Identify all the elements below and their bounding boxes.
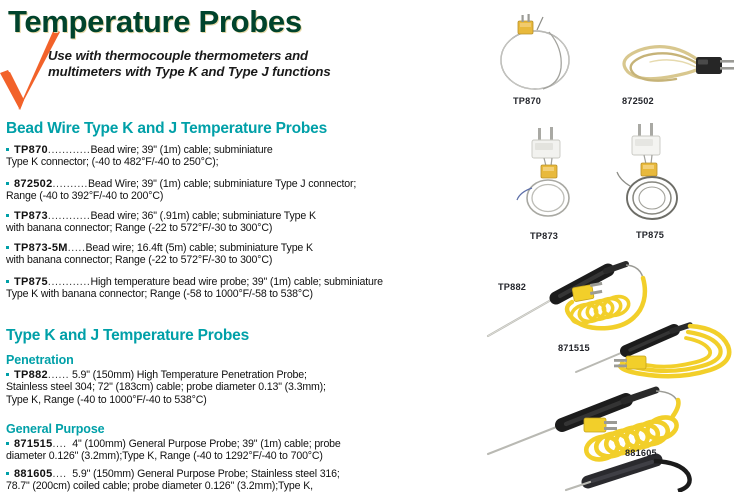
figure-caption: TP875 <box>636 230 664 240</box>
product-desc-line-1: High temperature bead wire probe; 39" (1… <box>90 276 382 288</box>
product-desc-line-2: diameter 0.126" (3.2mm);Type K, Range (-… <box>6 450 418 462</box>
figure-caption: 871515 <box>558 343 590 353</box>
general-purpose-coiled-probe-photo <box>480 386 720 492</box>
product-figure-871515: 871515 <box>570 318 746 396</box>
dot-leader: ............ <box>48 276 91 288</box>
section-heading-type-k-j: Type K and J Temperature Probes <box>6 327 249 345</box>
part-number: TP875 <box>14 276 48 288</box>
tan-cable-black-connector-photo <box>610 34 740 94</box>
bead-wire-loop-probe-photo <box>485 8 605 94</box>
general-purpose-probe-photo <box>570 318 746 396</box>
part-number: TP870 <box>14 144 48 156</box>
product-image-column: TP870 872502 <box>430 0 746 492</box>
product-figure-872502: 872502 <box>610 34 740 94</box>
figure-caption: 881605 <box>625 448 657 458</box>
product-desc-line-2: Type K with banana connector; Range (-58… <box>6 288 418 300</box>
product-item-871515: 871515.... 4" (100mm) General Purpose Pr… <box>6 438 418 463</box>
text-column: Temperature Probes Use with thermocouple… <box>0 0 430 492</box>
product-desc-line-1: Bead wire; 39" (1m) cable; subminiature <box>90 144 272 156</box>
product-item-tp873-5m: TP873-5M.....Bead wire; 16.4ft (5m) cabl… <box>6 242 418 267</box>
product-desc-line-1: Bead wire; 36" (.91m) cable; subminiatur… <box>90 210 315 222</box>
figure-caption: TP882 <box>498 282 526 292</box>
product-desc-line-2: Type K connector; (-40 to 482°F/-40 to 2… <box>6 156 418 168</box>
page-subtitle: Use with thermocouple thermometers and m… <box>48 48 418 80</box>
part-number: TP873-5M <box>14 242 68 254</box>
product-item-tp873: TP873............Bead wire; 36" (.91m) c… <box>6 210 418 235</box>
dot-leader: ..... <box>68 242 86 254</box>
subtitle-line-2: multimeters with Type K and Type J funct… <box>48 64 418 80</box>
product-desc-line-2: 78.7" (200cm) coiled cable; probe diamet… <box>6 480 418 492</box>
part-number: TP873 <box>14 210 48 222</box>
product-desc-line-1: 5.9" (150mm) General Purpose Probe; Stai… <box>72 468 339 480</box>
dot-leader: ............ <box>48 210 91 222</box>
bullet-icon <box>6 246 9 249</box>
product-desc-line-3: Type K, Range (-40 to 1000°F/-40 to 538°… <box>6 394 418 406</box>
product-figure-881605: 881605 <box>480 386 720 492</box>
product-desc-line-1: 4" (100mm) General Purpose Probe; 39" (1… <box>72 438 340 450</box>
subsection-heading-penetration: Penetration <box>6 353 74 367</box>
part-number: 871515 <box>14 438 53 450</box>
banana-plug-coiled-wire-probe-photo <box>516 126 606 230</box>
figure-caption: TP873 <box>530 231 558 241</box>
product-item-tp870: TP870............Bead wire; 39" (1m) cab… <box>6 144 418 169</box>
product-desc-line-1: 5.9" (150mm) High Temperature Penetratio… <box>72 369 307 381</box>
subsection-heading-general-purpose: General Purpose <box>6 422 105 436</box>
product-desc-line-2: with banana connector; Range (-22 to 572… <box>6 254 418 266</box>
bullet-icon <box>6 148 9 151</box>
product-item-881605: 881605.... 5.9" (150mm) General Purpose … <box>6 468 418 492</box>
part-number: TP882 <box>14 369 48 381</box>
bullet-icon <box>6 472 9 475</box>
bullet-icon <box>6 280 9 283</box>
bullet-icon <box>6 182 9 185</box>
bullet-icon <box>6 442 9 445</box>
dot-leader: .......... <box>53 178 88 190</box>
part-number: 881605 <box>14 468 53 480</box>
dot-leader: ...... <box>48 369 69 381</box>
subtitle-line-1: Use with thermocouple thermometers and <box>48 48 418 64</box>
product-item-tp882: TP882...... 5.9" (150mm) High Temperatur… <box>6 369 418 406</box>
product-figure-tp870: TP870 <box>485 8 605 94</box>
dot-leader: ............ <box>48 144 91 156</box>
bullet-icon <box>6 373 9 376</box>
page-title: Temperature Probes <box>8 4 302 40</box>
product-figure-tp873: TP873 <box>516 126 606 230</box>
section-heading-bead-wire: Bead Wire Type K and J Temperature Probe… <box>6 120 327 138</box>
figure-caption: TP870 <box>513 96 541 106</box>
product-desc-line-2: Stainless steel 304; 72" (183cm) cable; … <box>6 381 418 393</box>
product-desc-line-1: Bead wire; 16.4ft (5m) cable; subminiatu… <box>85 242 312 254</box>
part-number: 872502 <box>14 178 53 190</box>
bullet-icon <box>6 214 9 217</box>
product-item-tp875: TP875............High temperature bead w… <box>6 276 418 301</box>
catalog-page: Temperature Probes Use with thermocouple… <box>0 0 746 492</box>
product-desc-line-2: with banana connector; Range (-22 to 572… <box>6 222 418 234</box>
product-figure-tp875: TP875 <box>612 122 704 230</box>
product-desc-line-1: Bead Wire; 39" (1m) cable; subminiature … <box>88 178 356 190</box>
dot-leader: .... <box>53 438 67 450</box>
product-desc-line-2: Range (-40 to 392°F/-40 to 200°C) <box>6 190 418 202</box>
high-temp-banana-plug-probe-photo <box>612 122 704 230</box>
dot-leader: .... <box>53 468 67 480</box>
product-item-872502: 872502..........Bead Wire; 39" (1m) cabl… <box>6 178 418 203</box>
figure-caption: 872502 <box>622 96 654 106</box>
